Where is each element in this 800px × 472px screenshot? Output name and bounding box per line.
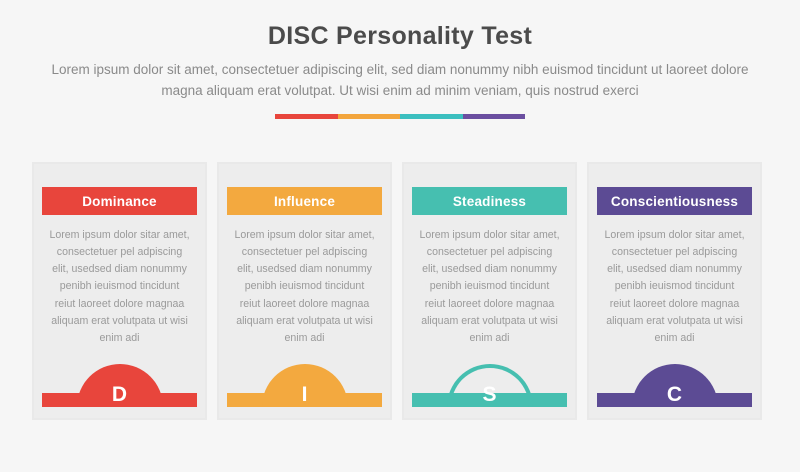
card-inner: Influence Lorem ipsum dolor sitar amet, … — [219, 164, 390, 418]
disc-cards: Dominance Lorem ipsum dolor sitar amet, … — [32, 162, 768, 420]
card-body-conscientiousness: Lorem ipsum dolor sitar amet, consectetu… — [603, 227, 746, 347]
card-inner: Conscientiousness Lorem ipsum dolor sita… — [589, 164, 760, 418]
card-letter-dominance: D — [112, 384, 127, 405]
disc-card-steadiness[interactable]: Steadiness Lorem ipsum dolor sitar amet,… — [402, 162, 577, 420]
accent-bar — [275, 114, 525, 119]
accent-segment-4 — [463, 114, 526, 119]
card-letter-steadiness: S — [482, 384, 496, 405]
card-title-dominance: Dominance — [42, 187, 197, 215]
accent-segment-2 — [338, 114, 401, 119]
card-letter-influence: I — [302, 384, 308, 405]
disc-card-influence[interactable]: Influence Lorem ipsum dolor sitar amet, … — [217, 162, 392, 420]
card-body-steadiness: Lorem ipsum dolor sitar amet, consectetu… — [418, 227, 561, 347]
card-title-conscientiousness: Conscientiousness — [597, 187, 752, 215]
page-title: DISC Personality Test — [0, 22, 800, 51]
card-title-steadiness: Steadiness — [412, 187, 567, 215]
disc-card-conscientiousness[interactable]: Conscientiousness Lorem ipsum dolor sita… — [587, 162, 762, 420]
infographic-page: DISC Personality Test Lorem ipsum dolor … — [0, 22, 800, 472]
page-subtitle: Lorem ipsum dolor sit amet, consectetuer… — [50, 60, 750, 102]
card-body-dominance: Lorem ipsum dolor sitar amet, consectetu… — [48, 227, 191, 347]
card-inner: Dominance Lorem ipsum dolor sitar amet, … — [34, 164, 205, 418]
card-body-influence: Lorem ipsum dolor sitar amet, consectetu… — [233, 227, 376, 347]
card-letter-conscientiousness: C — [667, 384, 682, 405]
disc-card-dominance[interactable]: Dominance Lorem ipsum dolor sitar amet, … — [32, 162, 207, 420]
card-inner: Steadiness Lorem ipsum dolor sitar amet,… — [404, 164, 575, 418]
accent-segment-3 — [400, 114, 463, 119]
accent-segment-1 — [275, 114, 338, 119]
card-title-influence: Influence — [227, 187, 382, 215]
